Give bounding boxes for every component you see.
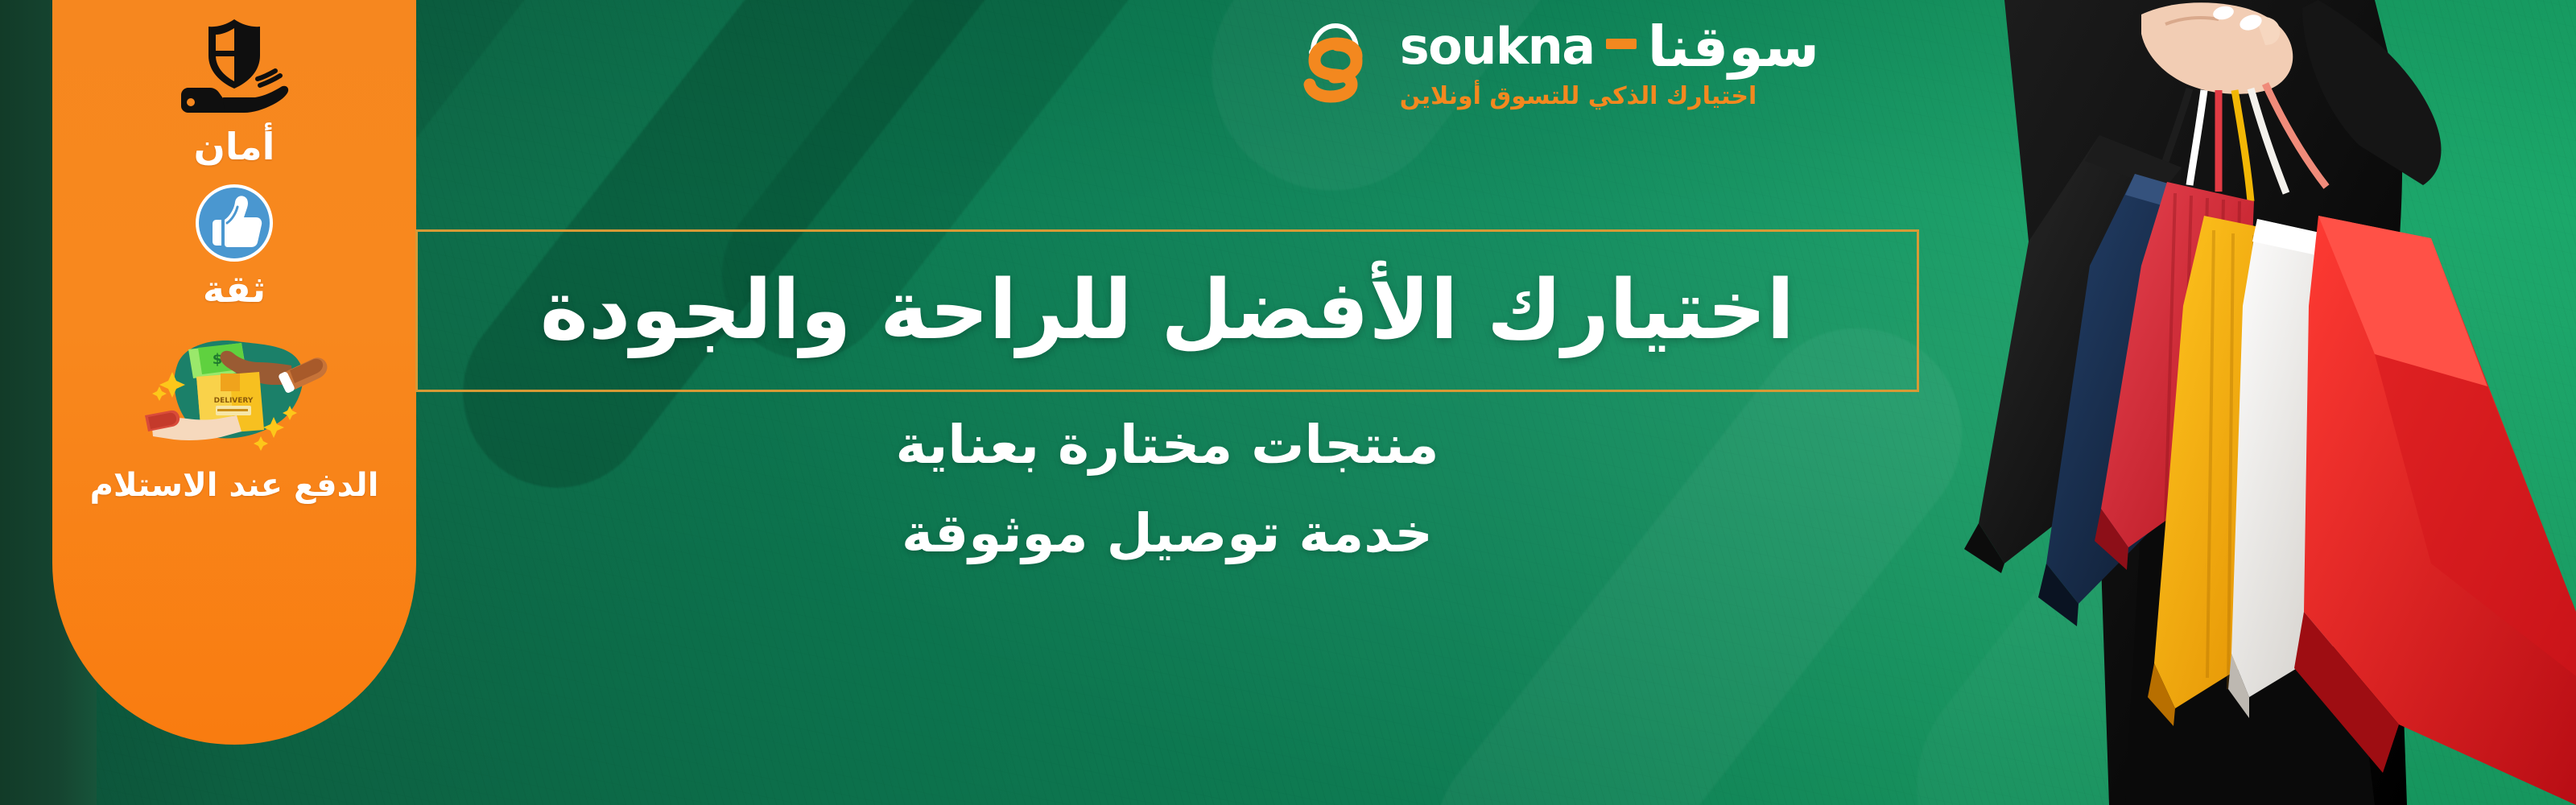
brand-tagline: اختيارك الذكي للتسوق أونلاين — [1400, 82, 1757, 110]
shield-on-hand-icon — [175, 18, 294, 119]
hero-photo-woman-with-shopping-bags — [1763, 0, 2576, 805]
headline-frame: اختيارك الأفضل للراحة والجودة — [415, 229, 1919, 392]
feature-label: أمان — [194, 127, 275, 167]
feature-item-security: أمان — [52, 18, 416, 167]
brand-text: سوقنا soukna اختيارك الذكي للتسوق أونلاي… — [1400, 19, 1819, 110]
brand-logo[interactable]: سوقنا soukna اختيارك الذكي للتسوق أونلاي… — [1289, 18, 1819, 111]
feature-item-trust: ثقة — [52, 181, 416, 309]
brand-separator-dash — [1606, 39, 1637, 49]
feature-label: الدفع عند الاستلام — [90, 469, 379, 502]
subheadline-1: منتجات مختارة بعناية — [895, 415, 1439, 475]
features-rail: أمان ثقة $ — [52, 0, 416, 745]
thumbs-up-icon — [192, 181, 276, 265]
promo-banner: أمان ثقة $ — [0, 0, 2576, 805]
feature-item-cash-on-delivery: $ DELIVERY — [52, 330, 416, 502]
brand-wordmark-latin: soukna — [1400, 22, 1595, 72]
shopping-bag-s-logo-icon — [1289, 18, 1379, 111]
cash-on-delivery-icon: $ DELIVERY — [140, 330, 328, 459]
subheadline-list: منتجات مختارة بعناية خدمة توصيل موثوقة — [415, 415, 1919, 563]
feature-label: ثقة — [203, 270, 266, 309]
brand-wordmark: سوقنا soukna — [1400, 19, 1819, 75]
page-title: اختيارك الأفضل للراحة والجودة — [540, 270, 1794, 352]
package-label: DELIVERY — [214, 397, 254, 405]
subheadline-2: خدمة توصيل موثوقة — [902, 504, 1433, 563]
